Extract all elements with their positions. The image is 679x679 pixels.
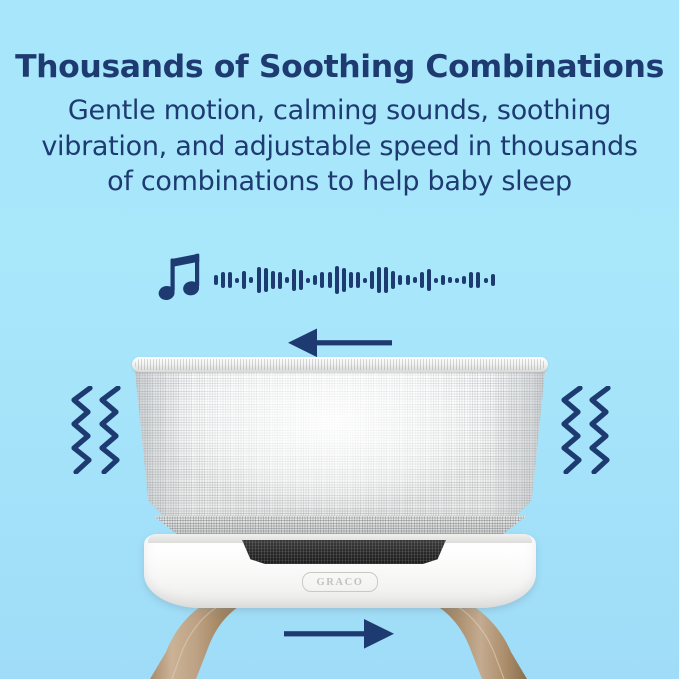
sound-wave-bar <box>292 269 296 291</box>
sound-wave-bar <box>356 272 360 288</box>
sound-wave-bar <box>462 276 466 284</box>
sound-wave-bar <box>228 272 232 288</box>
sound-wave-bar <box>455 278 459 283</box>
headline-block: Thousands of Soothing Combinations Gentl… <box>0 50 679 200</box>
sound-wave-bar <box>377 267 381 293</box>
basket-shading <box>134 362 546 540</box>
sound-wave-bar <box>476 272 480 288</box>
page-subtitle: Gentle motion, calming sounds, soothing … <box>30 93 650 201</box>
sound-wave-icon <box>214 252 495 308</box>
sound-wave-bar <box>491 274 495 286</box>
sound-wave-bar <box>278 272 282 289</box>
vibration-zigzag-left-icon <box>68 386 124 479</box>
sound-wave-bar <box>434 278 438 283</box>
promo-image-scene: Thousands of Soothing Combinations Gentl… <box>0 0 679 679</box>
sound-wave-bar <box>370 271 374 289</box>
sound-wave-bar <box>235 278 239 283</box>
sound-wave-bar <box>299 270 303 290</box>
sound-wave-bar <box>363 278 367 283</box>
sound-wave-bar <box>306 278 310 283</box>
bassinet-mesh-basket <box>134 362 546 540</box>
base-vent-grille-texture <box>240 540 448 564</box>
sound-wave-bar <box>349 272 353 288</box>
sound-wave-bar <box>484 278 488 283</box>
sound-wave-bar <box>420 272 424 288</box>
sound-wave-bar <box>342 268 346 292</box>
bassinet-motor-base: GRACO <box>144 534 536 608</box>
sound-wave-bar <box>221 272 225 288</box>
sound-wave-bar <box>328 272 332 288</box>
sound-wave-bar <box>335 266 339 294</box>
sound-wave-bar <box>249 277 253 283</box>
sound-wave-bar <box>448 277 452 283</box>
arrow-left-icon <box>288 327 392 364</box>
arrow-right-icon <box>284 617 394 656</box>
sound-wave-bar <box>441 275 445 285</box>
sound-wave-bar <box>320 272 324 288</box>
sound-wave-bar <box>242 271 246 289</box>
vibration-zigzag-right-icon <box>558 386 614 479</box>
sound-wave-bar <box>285 277 289 283</box>
sound-wave-bar <box>264 268 268 292</box>
page-title: Thousands of Soothing Combinations <box>0 50 679 85</box>
sound-wave-bar <box>469 272 473 288</box>
sound-indicator-row <box>158 252 528 308</box>
sound-wave-bar <box>257 267 261 293</box>
sound-wave-bar <box>271 271 275 289</box>
music-note-icon <box>158 252 208 309</box>
sound-wave-bar <box>427 269 431 291</box>
sound-wave-bar <box>384 267 388 293</box>
graco-logo: GRACO <box>302 572 378 592</box>
sound-wave-bar <box>313 275 317 285</box>
sound-wave-bar <box>406 275 410 285</box>
sound-wave-bar <box>413 277 417 283</box>
sound-wave-bar <box>398 275 402 285</box>
sound-wave-bar <box>214 275 218 285</box>
sound-wave-bar <box>391 271 395 289</box>
